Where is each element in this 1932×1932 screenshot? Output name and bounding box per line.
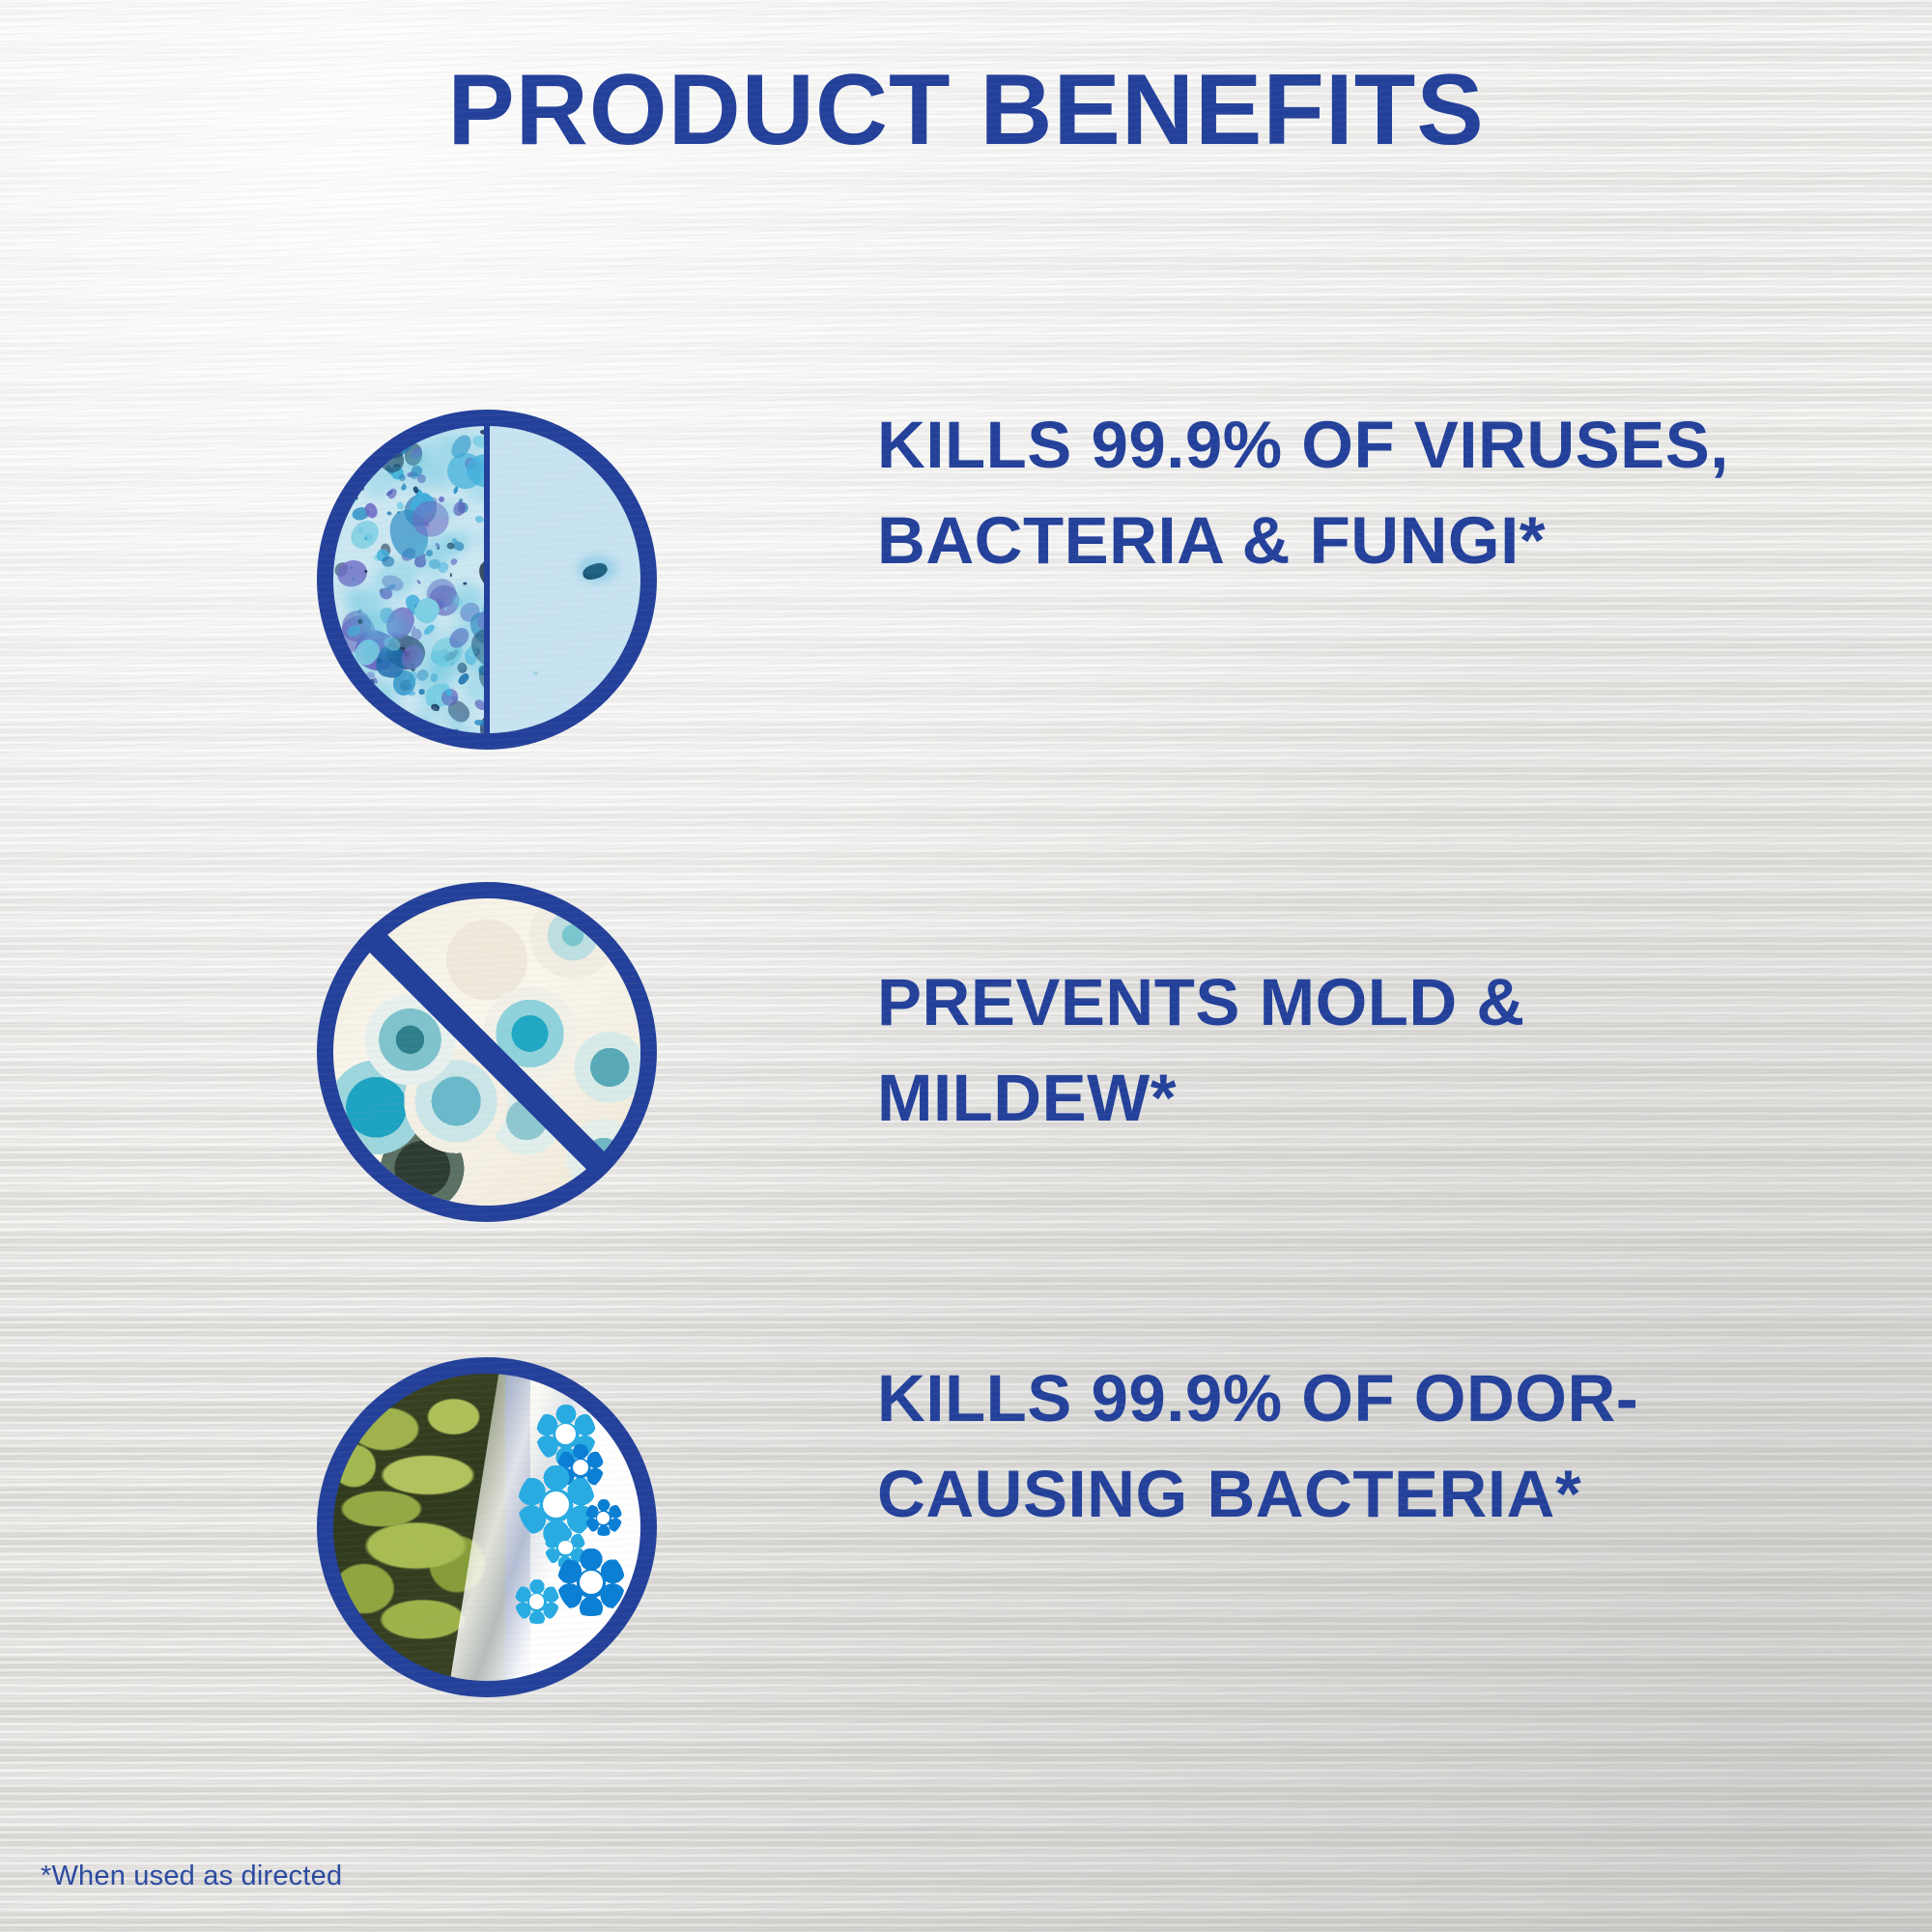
- residual-microbe: [487, 426, 640, 733]
- benefit-text: PREVENTS MOLD & MILDEW*: [877, 955, 1747, 1146]
- microscope-before-after-icon: [317, 410, 657, 750]
- benefit-text: KILLS 99.9% OF ODOR-CAUSING BACTERIA*: [877, 1351, 1747, 1542]
- benefit-text: KILLS 99.9% OF VIRUSES, BACTERIA & FUNGI…: [877, 398, 1747, 588]
- odor-bacteria-to-fresh-icon: [317, 1357, 657, 1697]
- microbe-cluster: [333, 426, 487, 733]
- microscope-clean-half: [487, 426, 640, 733]
- page-title: PRODUCT BENEFITS: [0, 60, 1932, 160]
- no-mold-icon: [317, 882, 657, 1222]
- split-divider: [484, 426, 490, 733]
- infographic-canvas: PRODUCT BENEFITS KILLS 99.9% OF VIRUSES,…: [0, 0, 1932, 1932]
- microscope-dirty-half: [333, 426, 487, 733]
- footnote: *When used as directed: [41, 1861, 342, 1892]
- flower-icon: [515, 1579, 559, 1624]
- flower-icon: [557, 1548, 625, 1616]
- flower-icon: [585, 1499, 622, 1536]
